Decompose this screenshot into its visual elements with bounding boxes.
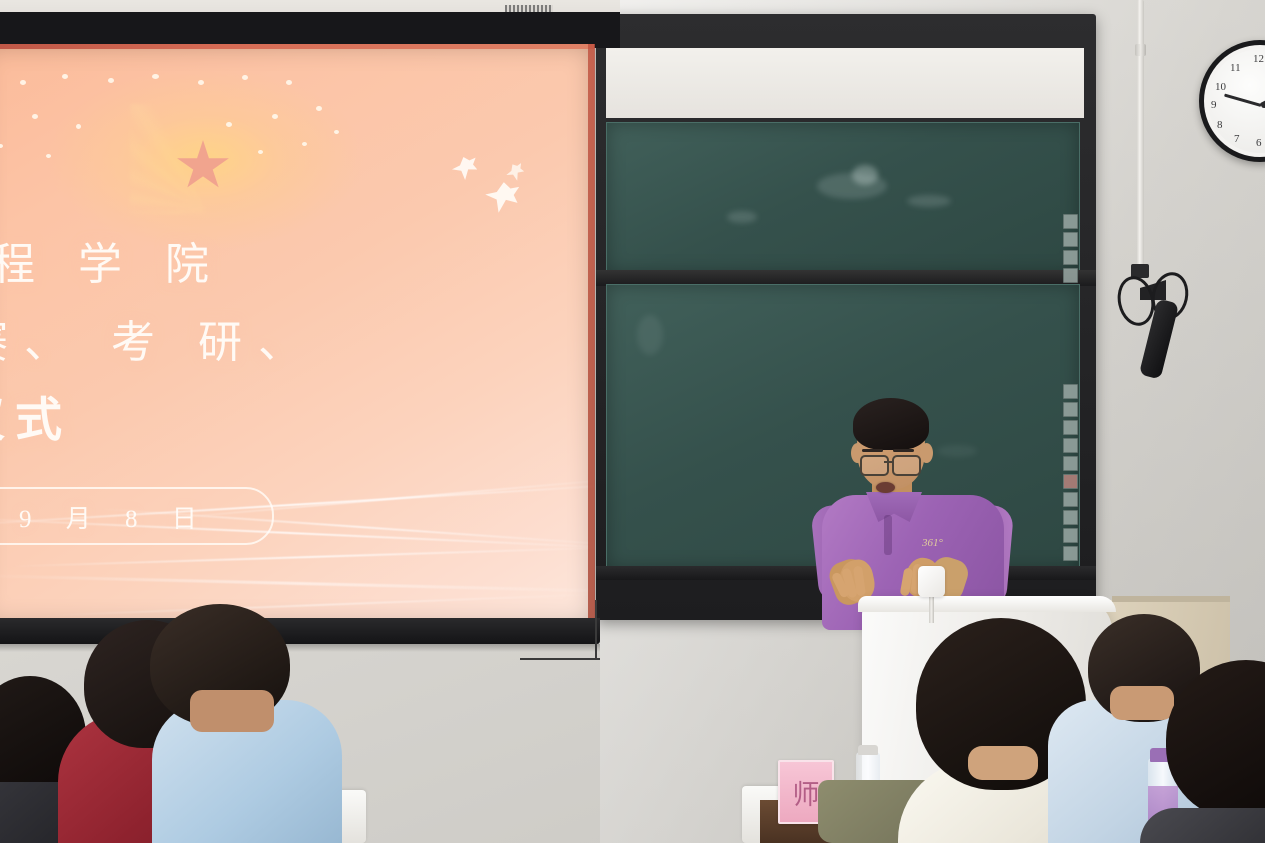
keyboard-icon[interactable] bbox=[1063, 420, 1078, 435]
grid-icon[interactable] bbox=[1063, 232, 1078, 247]
pen-icon[interactable] bbox=[1063, 510, 1078, 525]
pen-icon[interactable] bbox=[1063, 528, 1078, 543]
clock-minute-hand bbox=[1224, 94, 1261, 107]
dove-icon bbox=[451, 155, 479, 181]
speaker-right-eyebrow bbox=[893, 449, 914, 452]
student-neck bbox=[190, 690, 274, 732]
nameplate-text: 师 bbox=[793, 773, 820, 812]
chalkboard-controls-lower[interactable] bbox=[1063, 384, 1078, 561]
pen-icon[interactable] bbox=[1063, 492, 1078, 507]
eyeglasses-bridge bbox=[884, 461, 894, 463]
mic-boom-pole bbox=[1137, 0, 1144, 270]
page-icon[interactable] bbox=[1063, 214, 1078, 229]
speaker-shirt-placket bbox=[884, 515, 892, 555]
keyboard-icon[interactable] bbox=[1063, 250, 1078, 265]
clock-numeral-7: 7 bbox=[1234, 133, 1240, 145]
clock-numeral-10: 10 bbox=[1215, 81, 1226, 93]
podium-mic-stem bbox=[929, 595, 934, 623]
wall-cable bbox=[595, 600, 597, 660]
bottle-cap bbox=[858, 745, 878, 755]
speaker-icon[interactable] bbox=[1063, 268, 1078, 283]
clock-numeral-11: 11 bbox=[1230, 62, 1241, 74]
slide-title-line-1: 学 与 工 程 学 院 bbox=[0, 226, 550, 304]
podium-top-surface bbox=[858, 596, 1116, 612]
projection-screen: 学 与 工 程 学 院 创、 竞 赛、 考 研、 导师聘任仪式 025 年 9 … bbox=[0, 44, 594, 626]
screen-left-red-edge bbox=[0, 44, 594, 49]
student-body bbox=[1140, 808, 1265, 843]
screen-drop-shadow bbox=[0, 644, 600, 652]
mic-pole-joint bbox=[1135, 44, 1146, 56]
clock-center-pin bbox=[1261, 102, 1265, 108]
slide-date-text: 025 年 9 月 8 日 bbox=[0, 499, 280, 535]
podium-microphone bbox=[918, 566, 945, 597]
wall-cable-horizontal bbox=[520, 658, 600, 660]
slide-title: 学 与 工 程 学 院 创、 竞 赛、 考 研、 导师聘任仪式 bbox=[0, 226, 550, 460]
clock-numeral-6: 6 bbox=[1256, 137, 1262, 149]
projector-screen-top-bar bbox=[0, 12, 620, 48]
dove-icon bbox=[504, 161, 527, 183]
speaker-right-ear bbox=[920, 443, 933, 463]
screen-right-red-edge bbox=[588, 44, 595, 626]
speaker-mouth bbox=[876, 482, 895, 493]
eyeglasses-left-lens bbox=[860, 455, 889, 476]
clock-numeral-9: 9 bbox=[1211, 99, 1217, 111]
pointer-icon[interactable] bbox=[1063, 456, 1078, 471]
grid-icon[interactable] bbox=[1063, 402, 1078, 417]
red-pen-icon[interactable] bbox=[1063, 474, 1078, 489]
clock-face: 12 11 10 9 8 7 6 bbox=[1208, 49, 1265, 153]
clock-numeral-12: 12 bbox=[1253, 53, 1264, 65]
page-icon[interactable] bbox=[1063, 384, 1078, 399]
chalkboard-upper-panel bbox=[606, 122, 1080, 274]
speaker-icon[interactable] bbox=[1063, 438, 1078, 453]
wood-panel-edge bbox=[1112, 596, 1230, 602]
chalkboard-white-strip bbox=[606, 48, 1084, 118]
dove-icon bbox=[483, 180, 519, 214]
eraser-icon[interactable] bbox=[1063, 546, 1078, 561]
eyeglasses-right-lens bbox=[892, 455, 921, 476]
projector-screen-bottom-bar bbox=[0, 618, 600, 644]
shirt-brand-logo: 361° bbox=[922, 537, 943, 549]
student-neck bbox=[968, 746, 1038, 780]
student-neck bbox=[1110, 686, 1174, 720]
slide-title-line-2: 创、 竞 赛、 考 研、 bbox=[0, 304, 550, 382]
clock-numeral-8: 8 bbox=[1217, 119, 1223, 131]
speaker-left-eyebrow bbox=[862, 449, 883, 452]
speaker-hair bbox=[853, 398, 929, 450]
classroom-photo: projector-screen-logo 学 与 工 程 学 院 创、 竞 bbox=[0, 0, 1265, 843]
chalkboard-controls-upper[interactable] bbox=[1063, 214, 1078, 283]
slide-title-line-3: 导师聘任仪式 bbox=[0, 382, 550, 460]
